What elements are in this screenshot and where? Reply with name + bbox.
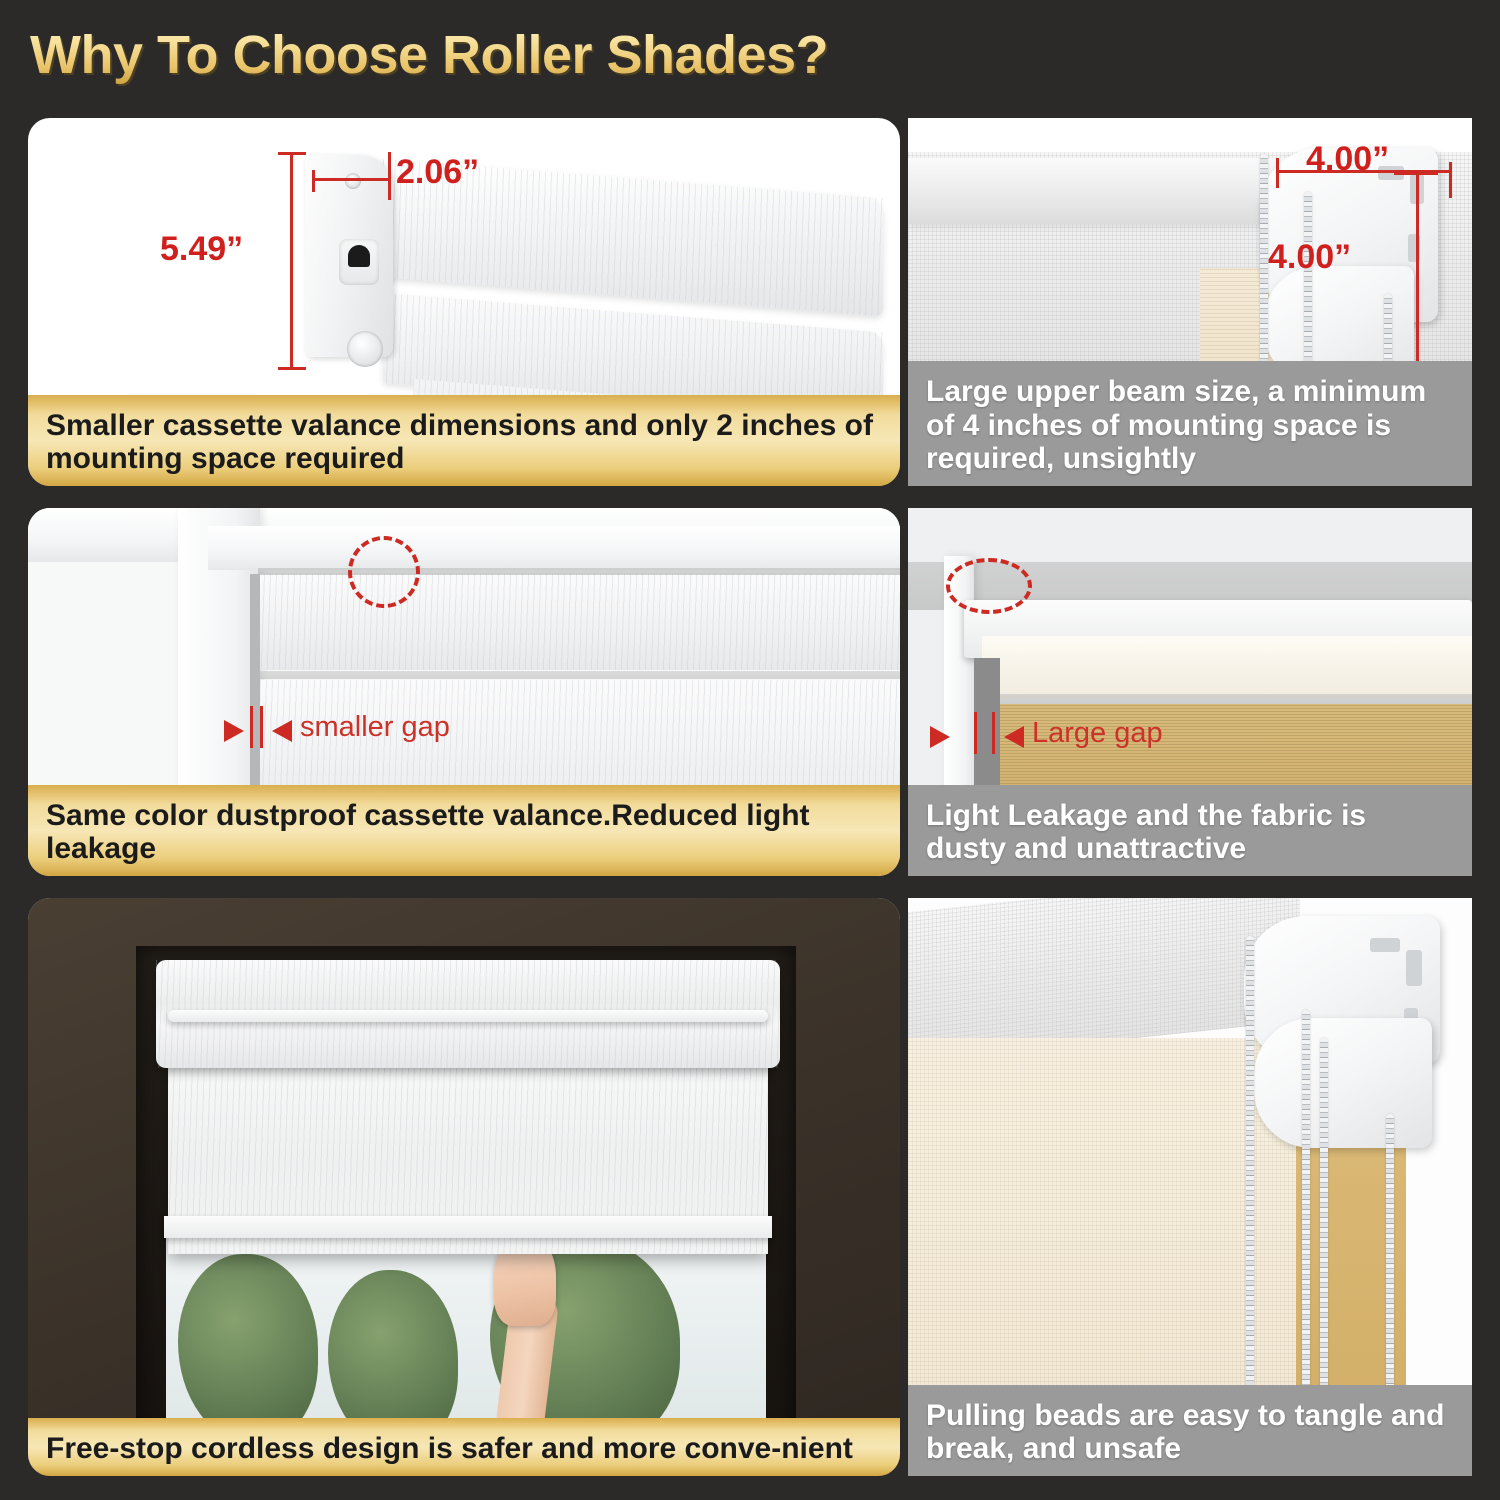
panel-smaller-gap: smaller gap Same color dustproof cassett…: [28, 508, 900, 876]
infographic-root: Why To Choose Roller Shades? Why To Choo…: [0, 0, 1500, 1500]
gap-arrow-left: [224, 720, 244, 742]
valance-centre-line: [168, 1010, 768, 1022]
panel-3-caption: Same color dustproof cassette valance.Re…: [28, 785, 900, 876]
gap-arrow-right: [272, 720, 292, 742]
beam-width-tick-right: [1449, 162, 1452, 198]
gap-tick-a: [974, 712, 977, 754]
panel-5-caption: Free-stop cordless design is safer and m…: [28, 1418, 900, 1476]
window-frame-header: [208, 526, 900, 570]
panel-large-beam: 4.00” 4.00” Large upper beam size, a min…: [908, 118, 1472, 486]
bracket-slot-a: [1370, 938, 1400, 952]
page-title: Why To Choose Roller Shades?: [30, 24, 828, 86]
beam-depth-tick-top: [1394, 172, 1438, 175]
height-dimension-tick-top: [278, 152, 306, 155]
width-dimension-tick-right: [388, 166, 391, 200]
beam-roller-tube: [908, 158, 1300, 224]
panel-smaller-cassette: 5.49” 2.06” Smaller cassette valance dim…: [28, 118, 900, 486]
gap-arrow-left: [930, 726, 950, 748]
beam-depth-label: 4.00”: [1268, 238, 1351, 277]
gap-tick-b: [992, 712, 995, 754]
panel-6-caption: Pulling beads are easy to tangle and bre…: [908, 1385, 1472, 1476]
end-cap-clutch-slot: [339, 239, 379, 285]
panel-large-gap: Large gap Light Leakage and the fabric i…: [908, 508, 1472, 876]
panel-pulling-beads: Pulling beads are easy to tangle and bre…: [908, 898, 1472, 1476]
room-window-image: [28, 898, 900, 1476]
width-dimension-tick-left: [312, 170, 315, 192]
smaller-gap-label: smaller gap: [300, 711, 450, 744]
shade-divider: [258, 671, 900, 679]
end-cap-screw-bottom: [347, 331, 383, 367]
end-cap-screw-top: [345, 173, 361, 189]
gap-highlight-circle: [348, 536, 420, 608]
gap-tick-b: [260, 706, 263, 748]
roller-bracket-lower: [1254, 1018, 1432, 1148]
panel-4-caption: Light Leakage and the fabric is dusty an…: [908, 785, 1472, 876]
beam-width-label: 4.00”: [1306, 140, 1389, 179]
beam-width-tick-left: [1276, 158, 1279, 188]
panel-cordless-design: Free-stop cordless design is safer and m…: [28, 898, 900, 1476]
gap-tick-a: [250, 706, 253, 748]
bracket-slot-b: [1406, 950, 1422, 986]
large-gap-label: Large gap: [1032, 717, 1163, 750]
cassette-end-cap: [305, 155, 393, 357]
width-dimension-riser: [388, 152, 391, 170]
panel-1-caption: Smaller cassette valance dimensions and …: [28, 395, 900, 486]
height-dimension-tick-bottom: [278, 367, 306, 370]
width-dimension-label: 2.06”: [396, 153, 479, 192]
beam-front-face: [982, 636, 1472, 698]
gap-highlight-circle: [946, 558, 1032, 614]
bottom-rail: [164, 1216, 772, 1238]
width-dimension-line: [312, 178, 390, 181]
height-dimension-label: 5.49”: [160, 230, 243, 269]
gap-arrow-right: [1004, 726, 1024, 748]
height-dimension-line: [290, 152, 293, 370]
panel-2-caption: Large upper beam size, a minimum of 4 in…: [908, 361, 1472, 486]
